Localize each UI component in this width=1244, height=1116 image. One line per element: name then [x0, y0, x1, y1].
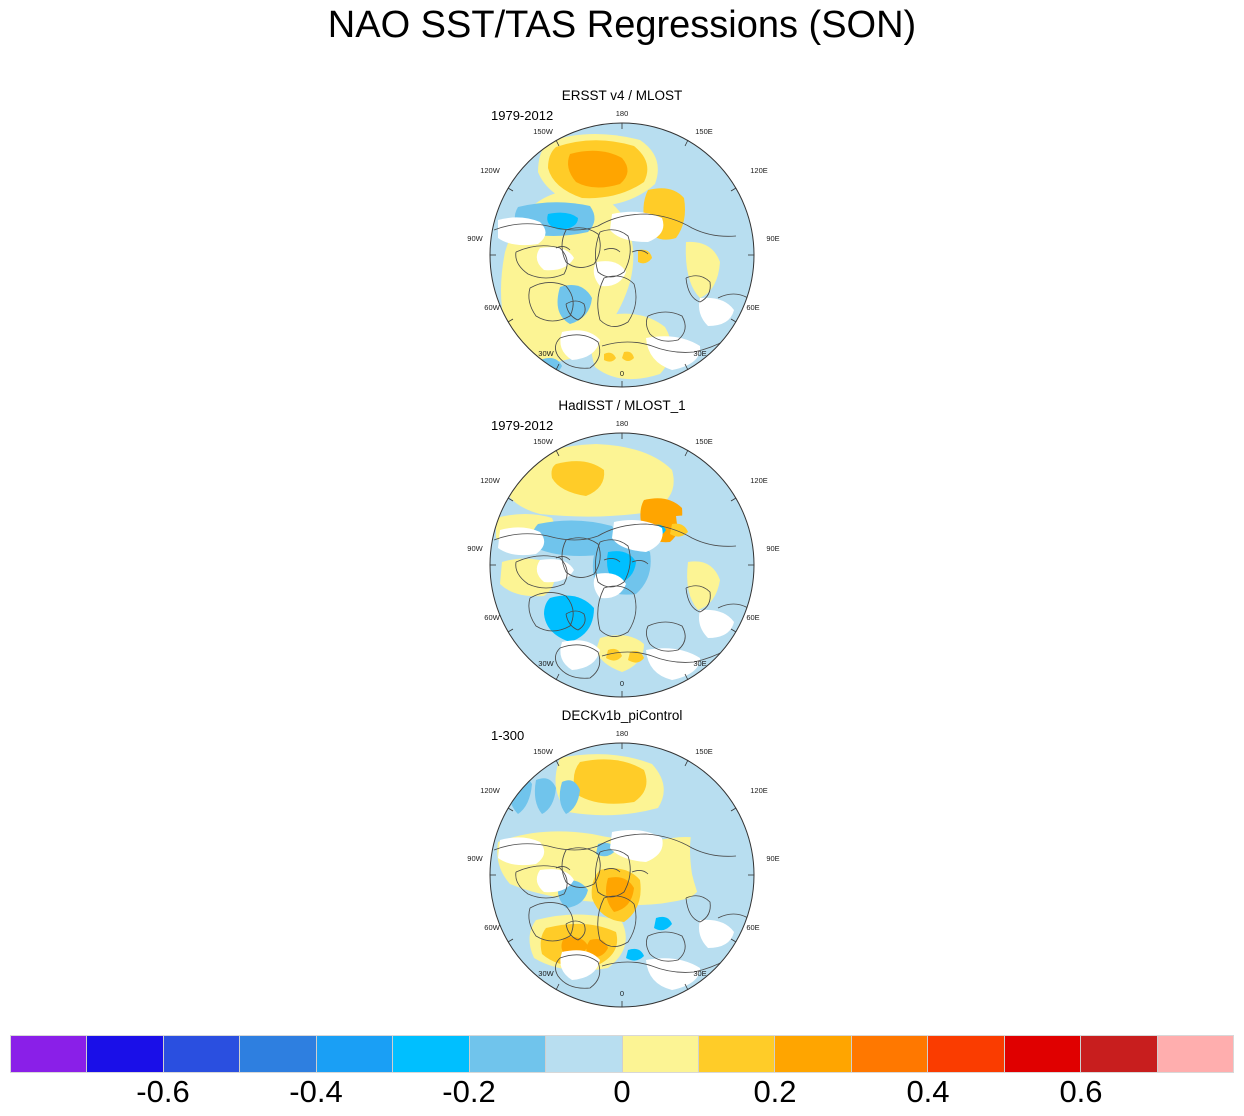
colorbar-swatch: [546, 1036, 622, 1072]
colorbar-tick: 0.2: [753, 1074, 796, 1110]
svg-text:30E: 30E: [693, 349, 706, 358]
map-fill-layer: [490, 743, 754, 1007]
colorbar: [10, 1035, 1234, 1073]
colorbar-swatch: [699, 1036, 775, 1072]
svg-text:180: 180: [616, 419, 629, 428]
svg-text:60W: 60W: [484, 923, 500, 932]
svg-text:180: 180: [616, 729, 629, 738]
svg-text:60W: 60W: [484, 613, 500, 622]
svg-text:30W: 30W: [538, 659, 554, 668]
svg-text:150E: 150E: [695, 127, 713, 136]
svg-text:120W: 120W: [480, 786, 501, 795]
colorbar-swatch: [240, 1036, 316, 1072]
svg-text:120E: 120E: [750, 786, 768, 795]
colorbar-swatch: [928, 1036, 1004, 1072]
polar-map-ersst: 180 150E 120E 90E 60E 30E 0 30W 60W 90W …: [0, 102, 1244, 392]
colorbar-swatch: [317, 1036, 393, 1072]
svg-text:150E: 150E: [695, 747, 713, 756]
colorbar-tick: -0.6: [136, 1074, 189, 1110]
svg-text:0: 0: [620, 369, 624, 378]
figure-title: NAO SST/TAS Regressions (SON): [0, 4, 1244, 47]
colorbar-tick: 0: [613, 1074, 630, 1110]
svg-text:0: 0: [620, 679, 624, 688]
colorbar-swatch: [393, 1036, 469, 1072]
svg-text:30E: 30E: [693, 659, 706, 668]
svg-text:150E: 150E: [695, 437, 713, 446]
colorbar-tick: -0.2: [442, 1074, 495, 1110]
svg-text:60W: 60W: [484, 303, 500, 312]
svg-text:90W: 90W: [467, 544, 483, 553]
colorbar-tick: -0.4: [289, 1074, 342, 1110]
svg-text:120E: 120E: [750, 476, 768, 485]
svg-text:30E: 30E: [693, 969, 706, 978]
svg-text:30W: 30W: [538, 969, 554, 978]
svg-text:90E: 90E: [766, 544, 779, 553]
map-fill-layer: [490, 433, 754, 697]
colorbar-swatch: [87, 1036, 163, 1072]
colorbar-tick-labels: -0.6-0.4-0.200.20.40.6: [0, 1074, 1244, 1116]
polar-stereographic-svg-2: 180 150E 120E 90E 60E 30E 0 30W 60W 90W …: [0, 412, 1244, 702]
svg-text:150W: 150W: [533, 747, 554, 756]
svg-text:150W: 150W: [533, 127, 554, 136]
map-fill-layer: [490, 123, 754, 387]
panel-title: HadISST / MLOST_1: [0, 398, 1244, 413]
panel-title: ERSST v4 / MLOST: [0, 88, 1244, 103]
map-panel-hadisst: HadISST / MLOST_1 1979-2012: [0, 398, 1244, 698]
colorbar-swatch: [1081, 1036, 1157, 1072]
svg-text:60E: 60E: [746, 613, 759, 622]
svg-text:180: 180: [616, 109, 629, 118]
colorbar-swatch: [775, 1036, 851, 1072]
colorbar-swatch: [164, 1036, 240, 1072]
colorbar-swatch: [1005, 1036, 1081, 1072]
svg-text:90W: 90W: [467, 854, 483, 863]
colorbar-swatch: [1158, 1036, 1233, 1072]
svg-text:60E: 60E: [746, 923, 759, 932]
svg-text:90E: 90E: [766, 234, 779, 243]
polar-map-deck: 180 150E 120E 90E 60E 30E 0 30W 60W 90W …: [0, 722, 1244, 1012]
map-panel-deck: DECKv1b_piControl 1-300: [0, 708, 1244, 1008]
polar-stereographic-svg-3: 180 150E 120E 90E 60E 30E 0 30W 60W 90W …: [0, 722, 1244, 1012]
svg-text:60E: 60E: [746, 303, 759, 312]
colorbar-swatch: [11, 1036, 87, 1072]
colorbar-tick: 0.6: [1059, 1074, 1102, 1110]
colorbar-tick: 0.4: [906, 1074, 949, 1110]
polar-map-hadisst: 180 150E 120E 90E 60E 30E 0 30W 60W 90W …: [0, 412, 1244, 702]
svg-text:90E: 90E: [766, 854, 779, 863]
colorbar-swatch: [852, 1036, 928, 1072]
map-panel-ersst: ERSST v4 / MLOST 1979-2012: [0, 88, 1244, 388]
svg-text:120E: 120E: [750, 166, 768, 175]
svg-text:120W: 120W: [480, 166, 501, 175]
svg-text:30W: 30W: [538, 349, 554, 358]
colorbar-swatch: [623, 1036, 699, 1072]
colorbar-swatch: [470, 1036, 546, 1072]
svg-text:120W: 120W: [480, 476, 501, 485]
svg-text:90W: 90W: [467, 234, 483, 243]
svg-text:150W: 150W: [533, 437, 554, 446]
svg-text:0: 0: [620, 989, 624, 998]
polar-stereographic-svg-1: 180 150E 120E 90E 60E 30E 0 30W 60W 90W …: [0, 102, 1244, 392]
panel-title: DECKv1b_piControl: [0, 708, 1244, 723]
